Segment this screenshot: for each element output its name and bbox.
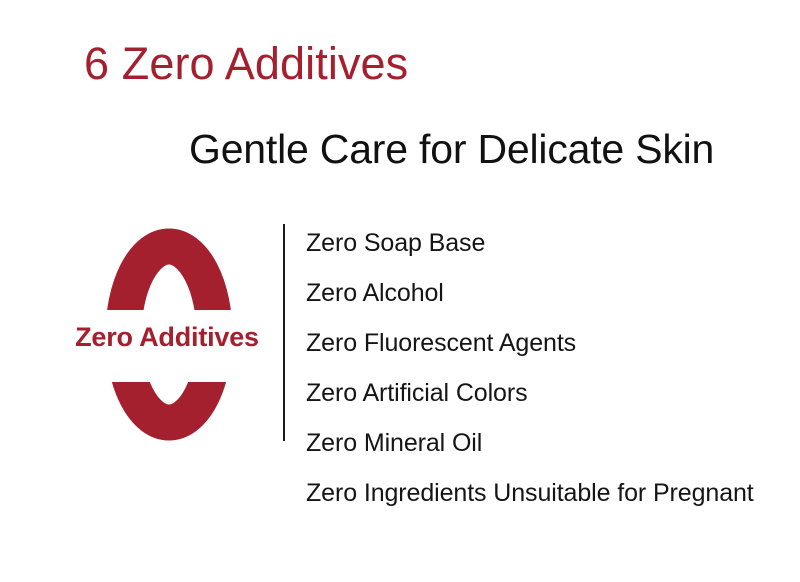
vertical-divider bbox=[283, 224, 285, 441]
list-item: Zero Mineral Oil bbox=[306, 418, 776, 468]
badge-label: Zero Additives bbox=[60, 318, 274, 356]
feature-list: Zero Soap Base Zero Alcohol Zero Fluores… bbox=[306, 218, 776, 518]
list-item: Zero Fluorescent Agents bbox=[306, 318, 776, 368]
infographic-canvas: 6 Zero Additives Gentle Care for Delicat… bbox=[0, 0, 800, 582]
list-item: Zero Soap Base bbox=[306, 218, 776, 268]
list-item: Zero Artificial Colors bbox=[306, 368, 776, 418]
page-title: 6 Zero Additives bbox=[84, 38, 408, 90]
list-item: Zero Ingredients Unsuitable for Pregnant bbox=[306, 468, 776, 518]
zero-additives-badge: Zero Additives bbox=[60, 222, 285, 446]
page-subtitle: Gentle Care for Delicate Skin bbox=[189, 124, 714, 174]
list-item: Zero Alcohol bbox=[306, 268, 776, 318]
